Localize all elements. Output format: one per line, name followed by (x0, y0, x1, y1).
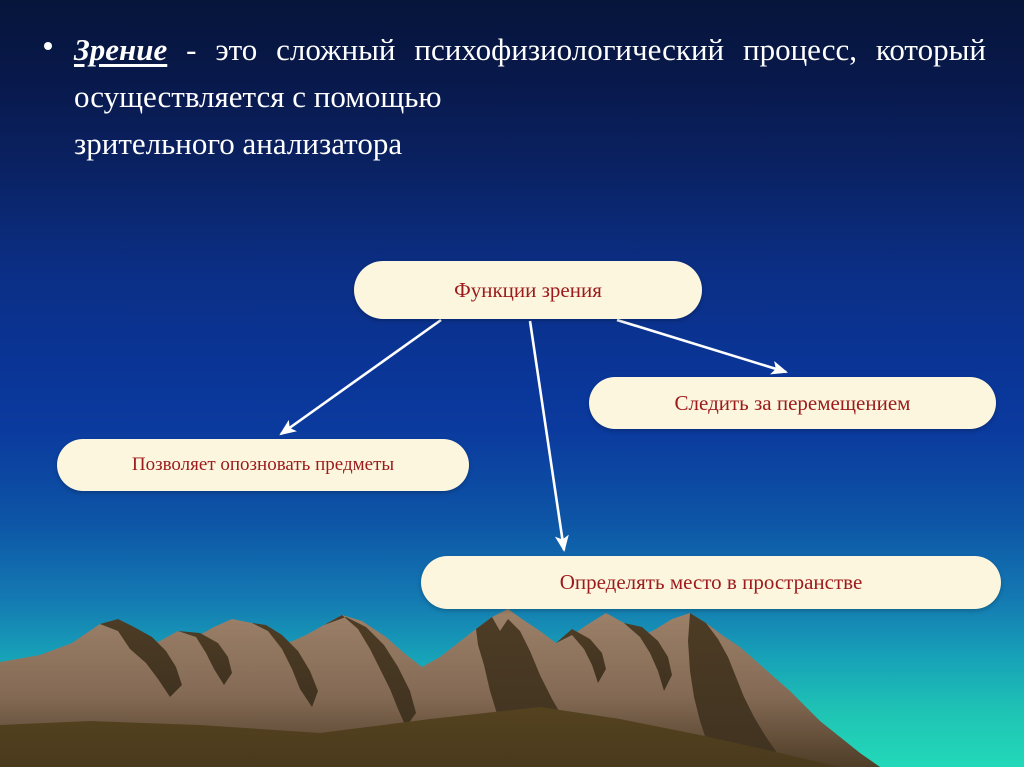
edge-root-to-bottom (530, 321, 564, 550)
presentation-slide: Зрение - это сложный психофизиологически… (0, 0, 1024, 767)
flowchart-node-root[interactable]: Функции зрения (354, 261, 702, 319)
edge-root-to-left (281, 320, 441, 434)
functions-flowchart: Функции зрения Позволяет опозновать пред… (0, 0, 1024, 767)
flowchart-node-track-movement[interactable]: Следить за перемещением (589, 377, 996, 429)
flowchart-node-locate-in-space[interactable]: Определять место в пространстве (421, 556, 1001, 609)
flowchart-node-recognize-objects[interactable]: Позволяет опозновать предметы (57, 439, 469, 491)
edge-root-to-right (617, 320, 786, 372)
